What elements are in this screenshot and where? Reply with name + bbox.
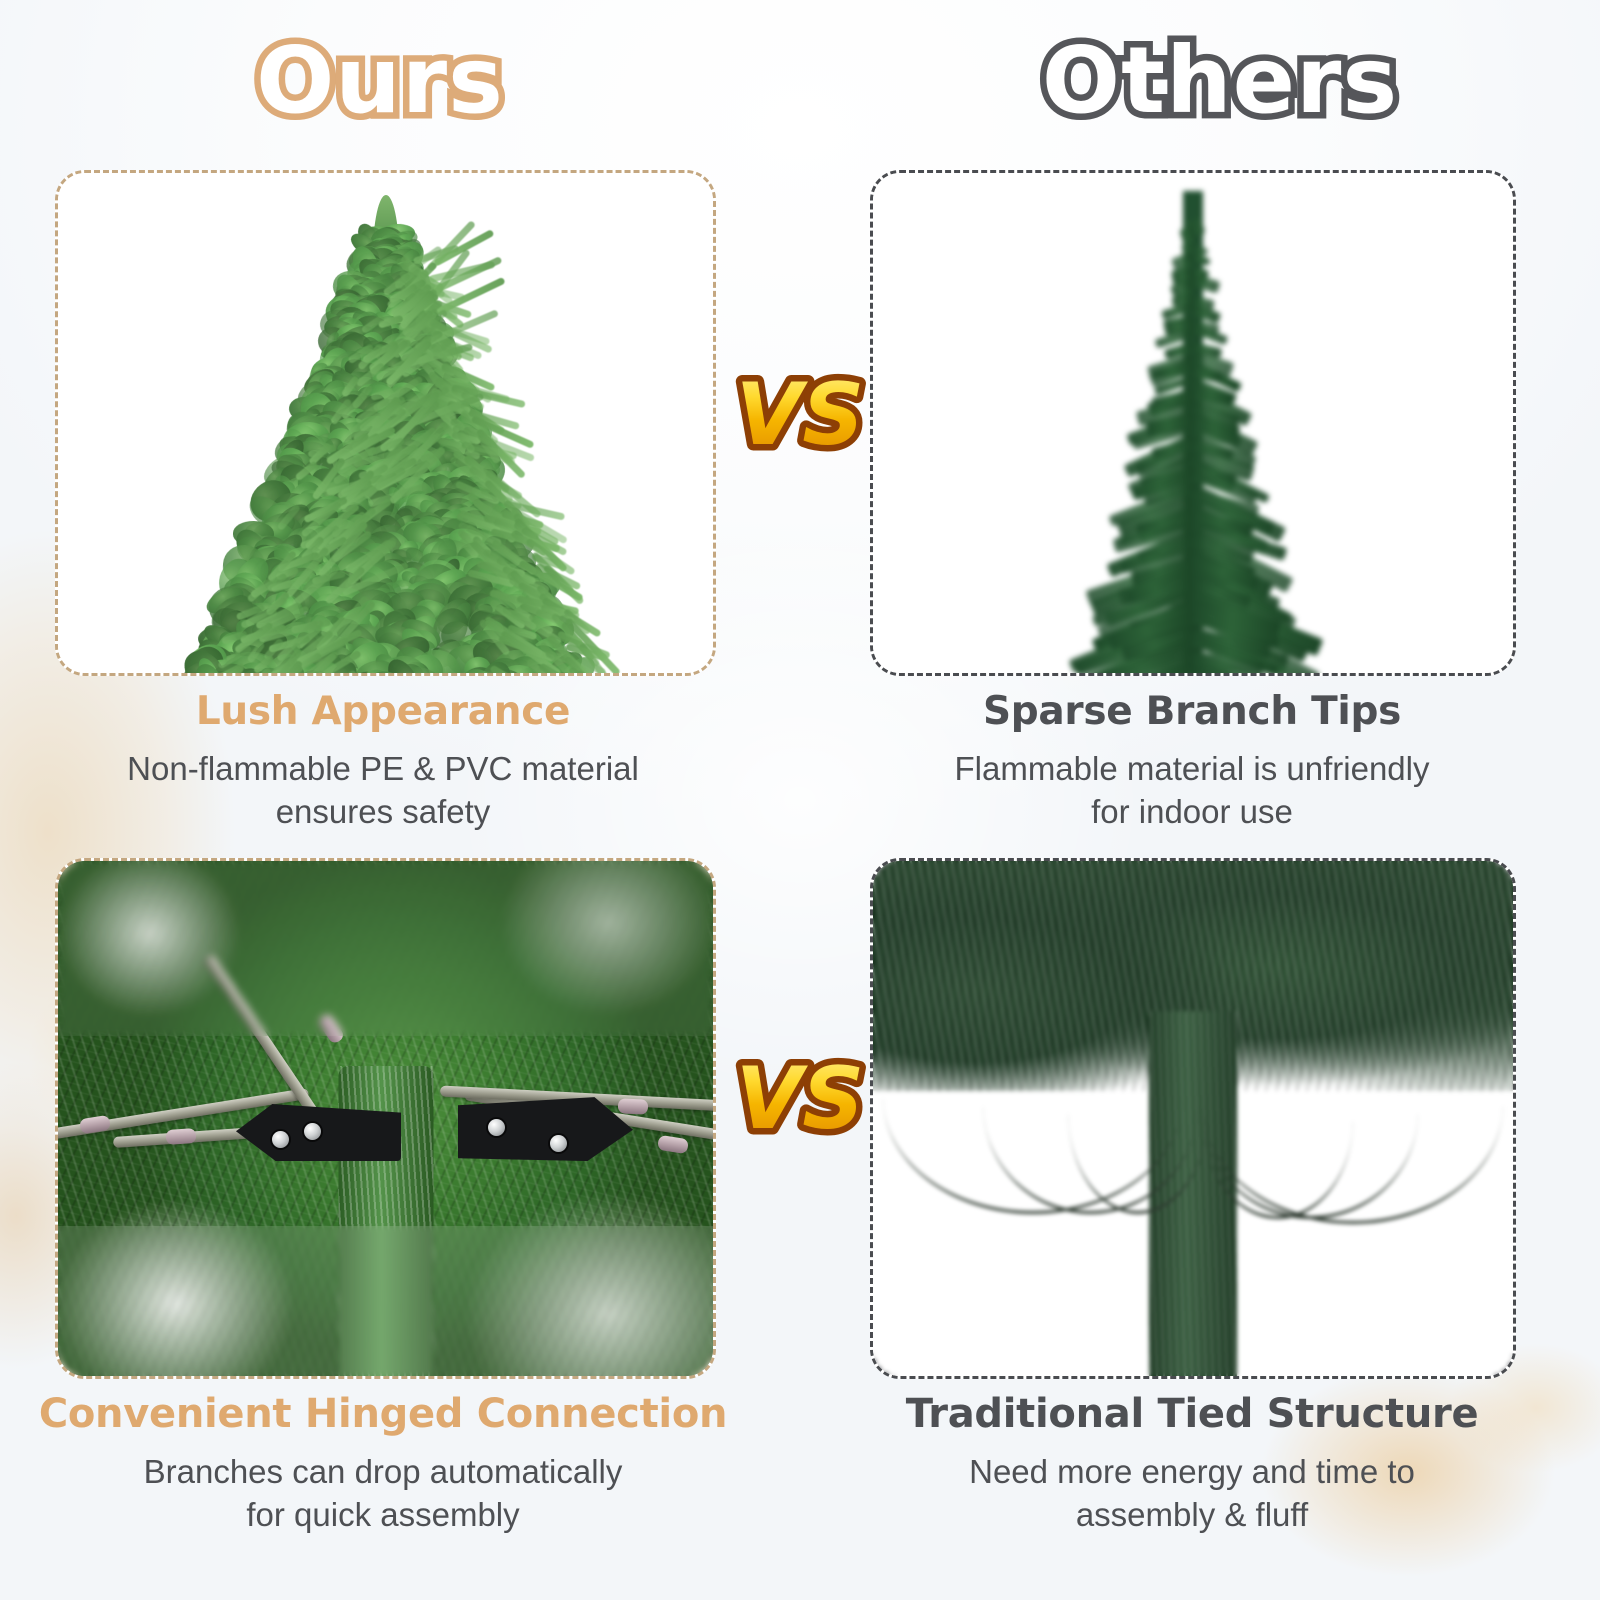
tree-branch-tuft [184, 674, 237, 676]
caption-ours-bottom-headline: Convenient Hinged Connection [28, 1392, 738, 1437]
hinge-rivet-right-1 [488, 1119, 505, 1136]
column-title-others-fill: Others [1042, 35, 1398, 127]
lush-tree-graphic [151, 199, 621, 676]
image-panel-ours-lush-tree [55, 170, 716, 676]
tied-structure-photo [873, 861, 1513, 1376]
column-title-ours: Ours Ours [40, 22, 720, 140]
caption-others-top-body-line2: for indoor use [862, 791, 1522, 834]
tree-branch-tuft [534, 675, 562, 676]
branch-ferrule-left-inner [166, 1128, 197, 1145]
caption-ours-bottom-body-line1: Branches can drop automatically [28, 1451, 738, 1494]
tree-branch-tuft [361, 673, 420, 676]
tree-needle-spray [574, 674, 635, 676]
tree-branch-tuft [385, 674, 429, 676]
image-panel-others-sparse-tree [870, 170, 1516, 676]
tree-branch-tuft [239, 673, 268, 676]
vs-badge-bottom: VS VS [715, 1042, 885, 1152]
tree-needle-spray [271, 675, 306, 676]
tree-branch-tuft [364, 675, 418, 676]
tree-branch-tuft [343, 673, 390, 676]
column-title-others: Others Others [880, 22, 1560, 140]
hinge-depth-blur-bottom [58, 1226, 713, 1376]
tree-needle-spray [223, 674, 247, 676]
caption-ours-top-headline: Lush Appearance [48, 690, 718, 734]
branch-ferrule-right-inner [618, 1098, 649, 1115]
caption-others-top-headline: Sparse Branch Tips [862, 690, 1522, 734]
hinge-rivet-left-1 [304, 1123, 321, 1140]
sparse-tree-graphic [978, 191, 1408, 676]
tree-branch-tuft [318, 674, 371, 676]
tree-branch-tuft [256, 675, 291, 676]
vs-badge-top-label: VS [736, 365, 865, 465]
image-panel-ours-hinged-connection [55, 858, 716, 1379]
tree-branch-tuft [258, 673, 303, 676]
hinge-rivet-left-2 [272, 1131, 289, 1148]
tied-depth-blur [873, 861, 1513, 1376]
caption-others-bottom-headline: Traditional Tied Structure [862, 1392, 1522, 1437]
hinge-photo [58, 861, 713, 1376]
tree-needle-spray [590, 675, 615, 676]
caption-others-sparse-branch-tips: Sparse Branch Tips Flammable material is… [862, 690, 1522, 833]
hinge-rivet-right-2 [550, 1135, 567, 1152]
vs-badge-bottom-label: VS [736, 1049, 865, 1149]
vs-badge-top-svg: VS VS [715, 358, 885, 468]
caption-ours-hinged-connection: Convenient Hinged Connection Branches ca… [28, 1392, 738, 1537]
caption-others-bottom-body-line2: assembly & fluff [862, 1494, 1522, 1537]
hinge-depth-blur-top [58, 861, 713, 1036]
image-panel-others-tied-structure [870, 858, 1516, 1379]
caption-others-tied-structure: Traditional Tied Structure Need more ene… [862, 1392, 1522, 1537]
vs-badge-top: VS VS [715, 358, 885, 468]
caption-others-bottom-body-line1: Need more energy and time to [862, 1451, 1522, 1494]
sparse-branch [1120, 675, 1194, 676]
caption-others-top-body-line1: Flammable material is unfriendly [862, 748, 1522, 791]
vs-badge-bottom-svg: VS VS [715, 1042, 885, 1152]
tree-branch-tuft [336, 675, 366, 676]
caption-ours-top-body-line1: Non-flammable PE & PVC material [48, 748, 718, 791]
tree-branch-tuft [222, 675, 265, 676]
caption-ours-lush-appearance: Lush Appearance Non-flammable PE & PVC m… [48, 690, 718, 833]
caption-ours-top-body-line2: ensures safety [48, 791, 718, 834]
caption-ours-bottom-body-line2: for quick assembly [28, 1494, 738, 1537]
lush-tree-photo [58, 173, 713, 673]
sparse-tree-photo [873, 173, 1513, 673]
column-title-ours-fill: Ours [256, 35, 504, 127]
